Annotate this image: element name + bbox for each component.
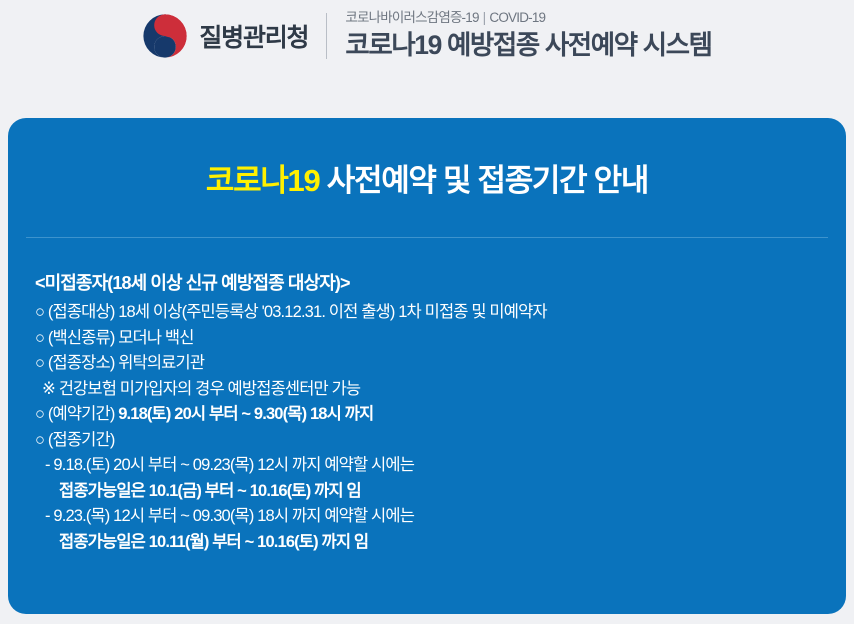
- notice-line: ○ (접종장소) 위탁의료기관: [35, 351, 846, 377]
- site-header: 질병관리청 코로나바이러스감염증-19|COVID-19 코로나19 예방접종 …: [0, 0, 854, 104]
- notice-line: ○ (접종대상) 18세 이상(주민등록상 '03.12.31. 이전 출생) …: [35, 300, 846, 326]
- page-title: 코로나19 예방접종 사전예약 시스템: [345, 29, 711, 61]
- header-title-block: 코로나바이러스감염증-19|COVID-19 코로나19 예방접종 사전예약 시…: [327, 10, 711, 62]
- agency-name: 질병관리청: [199, 18, 308, 54]
- banner-title-highlight: 코로나19: [206, 163, 320, 198]
- notice-line: 접종가능일은 10.1(금) 부터 ~ 10.16(토) 까지 임: [35, 479, 846, 505]
- notice-line-label: ○ (예약기간): [35, 405, 118, 423]
- notice-line: ○ (접종기간): [35, 428, 846, 454]
- notice-line: ○ (백신종류) 모더나 백신: [35, 326, 846, 352]
- notice-line: ○ (예약기간) 9.18(토) 20시 부터 ~ 9.30(목) 18시 까지: [35, 402, 846, 428]
- notice-line: - 9.23.(목) 12시 부터 ~ 09.30(목) 18시 까지 예약할 …: [35, 504, 846, 530]
- notice-line: ※ 건강보험 미가입자의 경우 예방접종센터만 가능: [35, 377, 846, 403]
- notice-line: <미접종자(18세 이상 신규 예방접종 대상자)>: [35, 268, 846, 300]
- brand-logo-block[interactable]: 질병관리청: [142, 13, 326, 59]
- eyebrow-korean: 코로나바이러스감염증-19: [345, 10, 478, 25]
- eyebrow-english: COVID-19: [489, 10, 545, 25]
- eyebrow-separator: |: [479, 10, 490, 25]
- notice-line: - 9.18.(토) 20시 부터 ~ 09.23(목) 12시 까지 예약할 …: [35, 453, 846, 479]
- notice-line-value: 9.18(토) 20시 부터 ~ 9.30(목) 18시 까지: [118, 405, 373, 423]
- notice-line: 접종가능일은 10.11(월) 부터 ~ 10.16(토) 까지 임: [35, 530, 846, 556]
- header-inner: 질병관리청 코로나바이러스감염증-19|COVID-19 코로나19 예방접종 …: [142, 10, 711, 62]
- banner-title-zone: 코로나19 사전예약 및 접종기간 안내: [8, 118, 846, 237]
- notice-banner: 코로나19 사전예약 및 접종기간 안내 <미접종자(18세 이상 신규 예방접…: [8, 118, 846, 614]
- header-eyebrow: 코로나바이러스감염증-19|COVID-19: [345, 10, 711, 26]
- banner-title-rest: 사전예약 및 접종기간 안내: [319, 163, 648, 198]
- taegeuk-logo-icon: [142, 13, 188, 59]
- banner-title: 코로나19 사전예약 및 접종기간 안내: [206, 155, 648, 200]
- notice-body-list: <미접종자(18세 이상 신규 예방접종 대상자)>○ (접종대상) 18세 이…: [8, 238, 846, 555]
